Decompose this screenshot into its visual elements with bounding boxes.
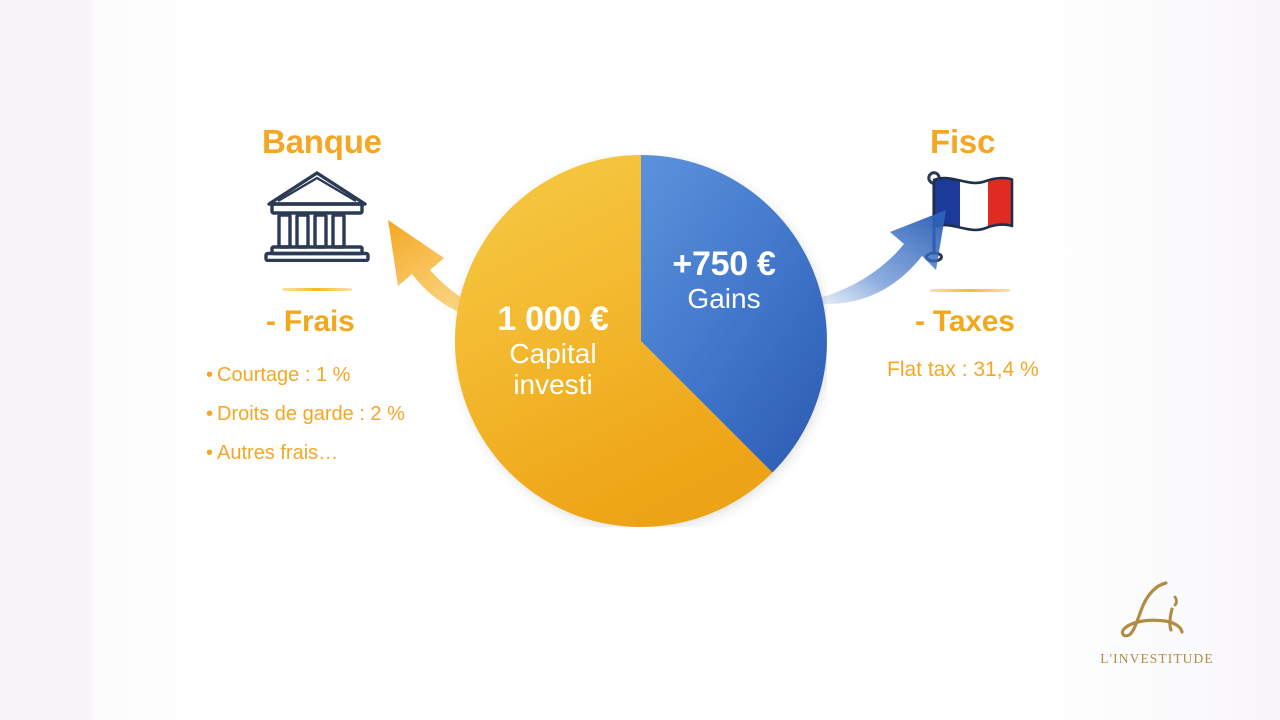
logo-monogram-icon xyxy=(1109,575,1205,649)
frais-heading: - Frais xyxy=(266,305,355,338)
bank-building-icon xyxy=(262,168,372,262)
bank-heading: Banque xyxy=(262,124,382,160)
pie-chart xyxy=(455,155,827,527)
french-flag-icon xyxy=(915,168,1023,268)
flat-tax-note: Flat tax : 31,4 % xyxy=(887,358,1039,382)
list-item: •Autres frais… xyxy=(206,434,405,473)
bullet-icon: • xyxy=(206,395,213,434)
right-divider xyxy=(930,289,1010,292)
list-item-label: Courtage : 1 % xyxy=(217,364,350,386)
list-item-label: Autres frais… xyxy=(217,442,338,464)
logo-wordmark: L'INVESTITUDE xyxy=(1093,651,1221,667)
fisc-heading: Fisc xyxy=(930,124,995,160)
taxes-heading: - Taxes xyxy=(915,305,1015,338)
bullet-icon: • xyxy=(206,356,213,395)
frais-list: •Courtage : 1 % •Droits de garde : 2 % •… xyxy=(206,356,405,473)
list-item: •Courtage : 1 % xyxy=(206,356,405,395)
list-item-label: Droits de garde : 2 % xyxy=(217,403,405,425)
brand-logo: L'INVESTITUDE xyxy=(1093,575,1221,673)
left-divider xyxy=(282,288,352,291)
bullet-icon: • xyxy=(206,434,213,473)
list-item: •Droits de garde : 2 % xyxy=(206,395,405,434)
infographic-canvas: Banque - Frais •Courtage : 1 % xyxy=(0,0,1280,720)
